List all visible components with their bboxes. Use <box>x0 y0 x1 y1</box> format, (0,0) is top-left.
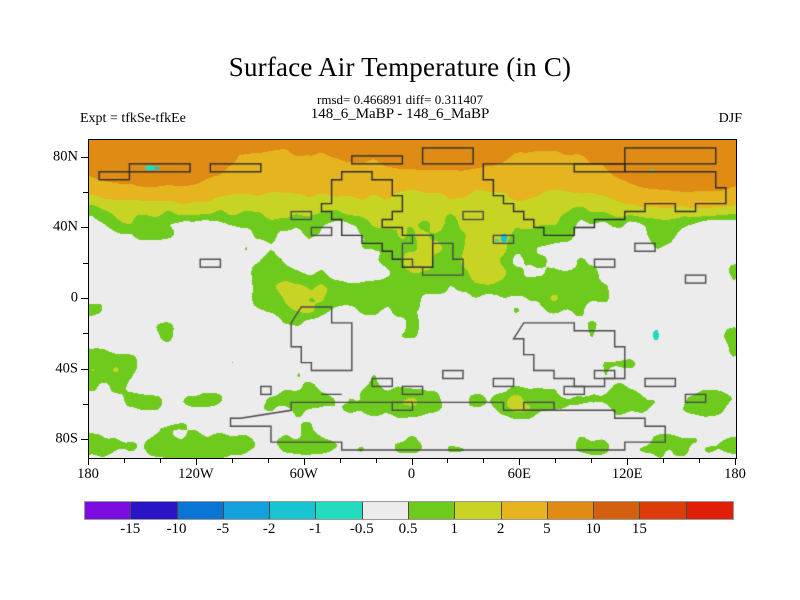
colorbar-tick-label: -15 <box>120 521 140 538</box>
colorbar <box>84 501 734 520</box>
x-axis-tick <box>591 458 592 463</box>
x-axis-label: 180 <box>77 466 99 483</box>
map-plot-area <box>88 139 737 459</box>
colorbar-tick-label: 10 <box>586 521 601 538</box>
y-axis-label: 80N <box>34 148 78 165</box>
page-title: Surface Air Temperature (in C) <box>0 52 800 83</box>
x-axis-label: 60E <box>508 466 531 483</box>
x-axis-tick <box>304 458 305 465</box>
x-axis-tick <box>483 458 484 463</box>
x-axis-label: 0 <box>408 466 415 483</box>
colorbar-tick-label: -5 <box>217 521 230 538</box>
y-axis-label: 80S <box>34 431 78 448</box>
season-label: DJF <box>719 111 742 127</box>
y-axis-tick <box>81 369 88 370</box>
experiment-label: Expt = tfkSe-tfkEe <box>80 111 186 127</box>
colorbar-tick-label: 2 <box>497 521 505 538</box>
x-axis-tick <box>196 458 197 465</box>
colorbar-tick-label: -10 <box>167 521 187 538</box>
colorbar-tick-label: 1 <box>451 521 459 538</box>
y-axis-label: 0 <box>34 290 78 307</box>
x-axis-tick <box>735 458 736 465</box>
y-axis-tick <box>83 192 88 193</box>
colorbar-tick-label: 0.5 <box>399 521 418 538</box>
y-axis-label: 40N <box>34 219 78 236</box>
colorbar-segment <box>131 502 177 519</box>
y-axis-tick <box>83 404 88 405</box>
y-axis-tick <box>81 439 88 440</box>
colorbar-segment <box>548 502 594 519</box>
x-axis-label: 60W <box>290 466 318 483</box>
colorbar-tick-label: -0.5 <box>350 521 374 538</box>
x-axis-tick <box>519 458 520 465</box>
colorbar-segment <box>224 502 270 519</box>
colorbar-tick-label: 5 <box>543 521 551 538</box>
y-axis-tick <box>81 298 88 299</box>
colorbar-segment <box>455 502 501 519</box>
x-axis-tick <box>447 458 448 463</box>
y-axis-tick <box>83 333 88 334</box>
y-axis-label: 40S <box>34 360 78 377</box>
x-axis-tick <box>627 458 628 465</box>
climate-map-figure: Surface Air Temperature (in C) rmsd= 0.4… <box>0 0 800 600</box>
y-axis-tick <box>81 157 88 158</box>
coastline-overlay <box>89 140 736 458</box>
colorbar-segment <box>270 502 316 519</box>
x-axis-tick <box>88 458 89 465</box>
x-axis-label: 120E <box>612 466 643 483</box>
x-axis-label: 120W <box>178 466 213 483</box>
colorbar-tick-label: 15 <box>632 521 647 538</box>
x-axis-tick <box>663 458 664 463</box>
colorbar-segment <box>502 502 548 519</box>
x-axis-tick <box>412 458 413 465</box>
x-axis-tick <box>555 458 556 463</box>
x-axis-tick <box>376 458 377 463</box>
x-axis-tick <box>699 458 700 463</box>
colorbar-segment <box>316 502 362 519</box>
x-axis-tick <box>268 458 269 463</box>
colorbar-segment <box>363 502 409 519</box>
y-axis-tick <box>83 263 88 264</box>
colorbar-tick-label: -1 <box>309 521 322 538</box>
y-axis-tick <box>81 227 88 228</box>
x-axis-tick <box>232 458 233 463</box>
colorbar-segment <box>640 502 686 519</box>
colorbar-segment <box>594 502 640 519</box>
x-axis-tick <box>124 458 125 463</box>
x-axis-tick <box>160 458 161 463</box>
colorbar-segment <box>178 502 224 519</box>
x-axis-tick <box>340 458 341 463</box>
colorbar-tick-label: -2 <box>263 521 276 538</box>
x-axis-label: 180 <box>724 466 746 483</box>
colorbar-segment <box>687 502 733 519</box>
colorbar-segment <box>409 502 455 519</box>
colorbar-segment <box>85 502 131 519</box>
